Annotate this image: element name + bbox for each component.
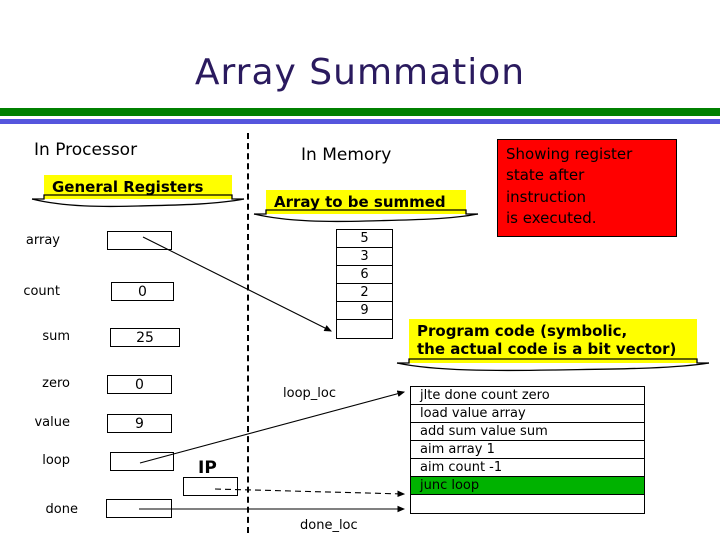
connector-label-loop-loc: loop_loc: [283, 386, 336, 401]
code-line[interactable]: jlte done count zero: [411, 387, 644, 405]
page-title: Array Summation: [0, 52, 720, 93]
ip-label: IP: [198, 458, 217, 478]
memory-array: 5 3 6 2 9: [336, 229, 393, 339]
register-label-array: array: [20, 233, 60, 248]
memory-cell[interactable]: 3: [337, 248, 392, 266]
pointer-loop-to-code: [140, 392, 404, 463]
register-label-sum: sum: [20, 329, 70, 344]
banner-label-array-to-be-summed: Array to be summed: [266, 190, 466, 215]
register-value-count[interactable]: 0: [111, 282, 174, 301]
memory-cell[interactable]: 6: [337, 266, 392, 284]
memory-cell[interactable]: 9: [337, 302, 392, 320]
banner-label-general-registers: General Registers: [44, 175, 232, 200]
register-value-done[interactable]: [106, 499, 172, 518]
banner-label-program-code: Program code (symbolic,the actual code i…: [409, 319, 697, 363]
banner-program-code: Program code (symbolic,the actual code i…: [409, 319, 697, 371]
heading-in-processor: In Processor: [34, 140, 137, 160]
column-divider: [247, 133, 249, 533]
note-box-showing-register-state: Showing register state after instruction…: [497, 139, 677, 237]
register-label-loop: loop: [20, 453, 70, 468]
code-line[interactable]: aim array 1: [411, 441, 644, 459]
register-value-zero[interactable]: 0: [107, 375, 172, 394]
connector-label-done-loc: done_loc: [300, 518, 358, 533]
register-label-zero: zero: [20, 376, 70, 391]
banner-array-to-be-summed: Array to be summed: [266, 190, 466, 222]
register-label-value: value: [20, 415, 70, 430]
ip-value-box[interactable]: [183, 477, 238, 496]
code-line[interactable]: aim count -1: [411, 459, 644, 477]
banner-program-code-line1: Program code (symbolic,: [417, 322, 627, 340]
banner-program-code-line2: the actual code is a bit vector): [417, 340, 676, 358]
register-value-sum[interactable]: 25: [110, 328, 180, 347]
heading-in-memory: In Memory: [301, 145, 391, 165]
code-line-current[interactable]: junc loop: [411, 477, 644, 495]
divider-bar-green: [0, 108, 720, 116]
code-line[interactable]: add sum value sum: [411, 423, 644, 441]
program-code-list: jlte done count zero load value array ad…: [410, 386, 645, 514]
memory-cell[interactable]: 2: [337, 284, 392, 302]
divider-bar-blue: [0, 119, 720, 124]
register-value-value[interactable]: 9: [107, 414, 172, 433]
memory-cell[interactable]: 5: [337, 230, 392, 248]
banner-general-registers: General Registers: [44, 175, 232, 207]
register-label-count: count: [20, 284, 60, 299]
code-line[interactable]: [411, 495, 644, 513]
register-label-done: done: [20, 502, 78, 517]
memory-cell[interactable]: [337, 320, 392, 338]
slide-canvas: Array Summation In Processor In Memory S…: [0, 0, 720, 540]
pointer-ip-to-current-instruction: [215, 489, 404, 494]
register-value-array[interactable]: [107, 231, 172, 250]
code-line[interactable]: load value array: [411, 405, 644, 423]
register-value-loop[interactable]: [110, 452, 174, 471]
